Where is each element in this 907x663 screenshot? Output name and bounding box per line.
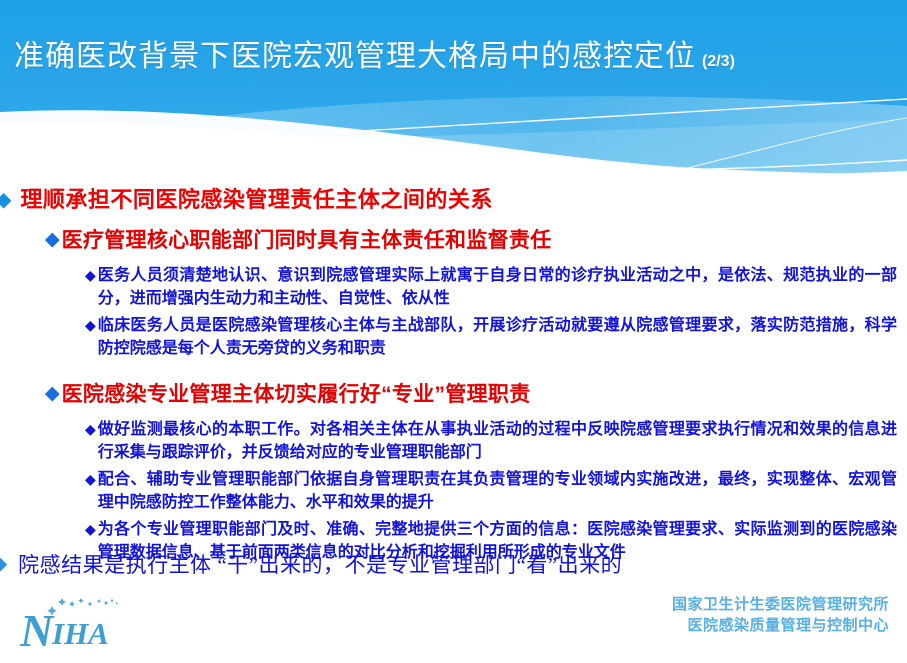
bullet-level3-item: ◆ 配合、辅助专业管理职能部门依据自身管理职责在其负责管理的专业领域内实施改进，… [85, 468, 897, 514]
bullet-level2-text: 医院感染专业管理主体切实履行好“专业”管理职责 [62, 381, 531, 408]
diamond-bullet-icon: ◆ [85, 264, 96, 282]
bullet-level1-item: ◆ 理顺承担不同医院感染管理责任主体之间的关系 [0, 186, 896, 214]
bullet-level2-text: 医疗管理核心职能部门同时具有主体责任和监督责任 [62, 227, 552, 254]
page-title-text: 准确医改背景下医院宏观管理大格局中的感控定位 [14, 40, 696, 73]
diamond-bullet-icon: ◆ [85, 518, 96, 536]
bullet-level3-text: 医务人员须清楚地认识、意识到院感管理实际上就寓于自身日常的诊疗执业活动之中，是依… [98, 264, 897, 310]
logo-letter-n: N [20, 608, 52, 654]
page-counter: (2/3) [702, 53, 735, 70]
closing-statement: ◆ 院感结果是执行主体 “干”出来的，不是专业管理部门“看”出来的 [0, 551, 894, 579]
slide-header-banner: 准确医改背景下医院宏观管理大格局中的感控定位(2/3) [0, 0, 907, 175]
presentation-slide: 准确医改背景下医院宏观管理大格局中的感控定位(2/3) ◆ 理顺承担不同医院感染… [0, 0, 907, 663]
diamond-bullet-icon: ◆ [45, 227, 60, 249]
bullet-level2-item: ◆ 医院感染专业管理主体切实履行好“专业”管理职责 [45, 381, 905, 408]
bullet-level3-text: 临床医务人员是医院感染管理核心主体与主战部队，开展诊疗活动就要遵从院感管理要求，… [98, 314, 897, 360]
header-wave-decoration [0, 0, 907, 175]
bullet-level3-item: ◆ 临床医务人员是医院感染管理核心主体与主战部队，开展诊疗活动就要遵从院感管理要… [85, 314, 897, 360]
organization-line-2: 医院感染质量管理与控制中心 [672, 615, 889, 636]
bullet-level3-text: 配合、辅助专业管理职能部门依据自身管理职责在其负责管理的专业领域内实施改进，最终… [98, 468, 897, 514]
bullet-level3-text: 做好监测最核心的本职工作。对各相关主体在从事执业活动的过程中反映院感管理要求执行… [98, 418, 897, 464]
organization-credit: 国家卫生计生委医院管理研究所 医院感染质量管理与控制中心 [672, 594, 889, 636]
bullet-level2-item: ◆ 医疗管理核心职能部门同时具有主体责任和监督责任 [45, 227, 905, 254]
niha-logo: N IHA [20, 594, 170, 654]
bullet-level1-text: 理顺承担不同医院感染管理责任主体之间的关系 [20, 186, 493, 214]
diamond-bullet-icon: ◆ [0, 551, 7, 572]
bullet-level3-item: ◆ 医务人员须清楚地认识、意识到院感管理实际上就寓于自身日常的诊疗执业活动之中，… [85, 264, 897, 310]
closing-statement-text: 院感结果是执行主体 “干”出来的，不是专业管理部门“看”出来的 [18, 551, 622, 579]
slide-body: ◆ 理顺承担不同医院感染管理责任主体之间的关系 ◆ 医疗管理核心职能部门同时具有… [0, 176, 907, 576]
page-title: 准确医改背景下医院宏观管理大格局中的感控定位(2/3) [14, 38, 735, 81]
bullet-level3-item: ◆ 做好监测最核心的本职工作。对各相关主体在从事执业活动的过程中反映院感管理要求… [85, 418, 897, 464]
organization-line-1: 国家卫生计生委医院管理研究所 [672, 594, 889, 615]
diamond-bullet-icon: ◆ [85, 314, 96, 332]
diamond-bullet-icon: ◆ [85, 418, 96, 436]
diamond-bullet-icon: ◆ [0, 186, 11, 210]
diamond-bullet-icon: ◆ [85, 468, 96, 486]
logo-wordmark-iha: IHA [52, 618, 109, 649]
diamond-bullet-icon: ◆ [45, 381, 60, 403]
slide-footer: N IHA 国家卫生计生委医院管理研究所 医院感染质量管理与控制中心 [0, 586, 907, 663]
